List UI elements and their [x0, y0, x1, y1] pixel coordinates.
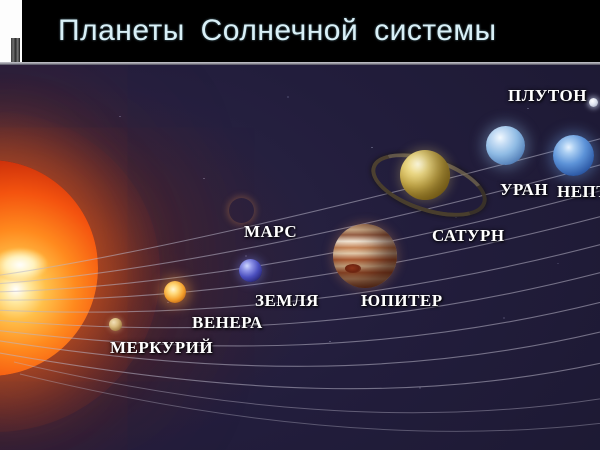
planet-mars	[229, 198, 254, 223]
jupiter-great-red-spot	[345, 264, 362, 273]
planet-uranus	[486, 126, 525, 165]
title-bar: Планеты Солнечной системы	[0, 0, 600, 62]
left-dark-bar-decoration	[11, 38, 20, 62]
planet-mercury	[109, 318, 122, 331]
planet-neptune	[553, 135, 594, 176]
image-top-edge	[0, 62, 600, 65]
planet-label-jupiter: ЮПИТЕР	[361, 291, 443, 311]
page-title: Планеты Солнечной системы	[58, 14, 497, 48]
planet-label-pluto: ПЛУТОН	[508, 86, 587, 106]
planet-label-uranus: УРАН	[500, 180, 548, 200]
planet-label-mars: МАРС	[244, 222, 297, 242]
planet-label-neptune: НЕПТ	[557, 182, 600, 202]
slide-screen: Планеты Солнечной системы	[0, 0, 600, 450]
solar-system-image: МЕРКУРИЙ ВЕНЕРА ЗЕМЛЯ МАРС ЮПИТЕР САТУРН…	[0, 62, 600, 450]
orbit-lines	[0, 62, 600, 450]
planet-earth	[239, 259, 262, 282]
planet-venus	[164, 281, 186, 303]
planet-label-venus: ВЕНЕРА	[192, 313, 263, 333]
planet-pluto	[589, 98, 598, 107]
planet-label-mercury: МЕРКУРИЙ	[110, 338, 213, 358]
planet-label-saturn: САТУРН	[432, 226, 505, 246]
planet-label-earth: ЗЕМЛЯ	[255, 291, 319, 311]
planet-jupiter	[333, 224, 397, 288]
